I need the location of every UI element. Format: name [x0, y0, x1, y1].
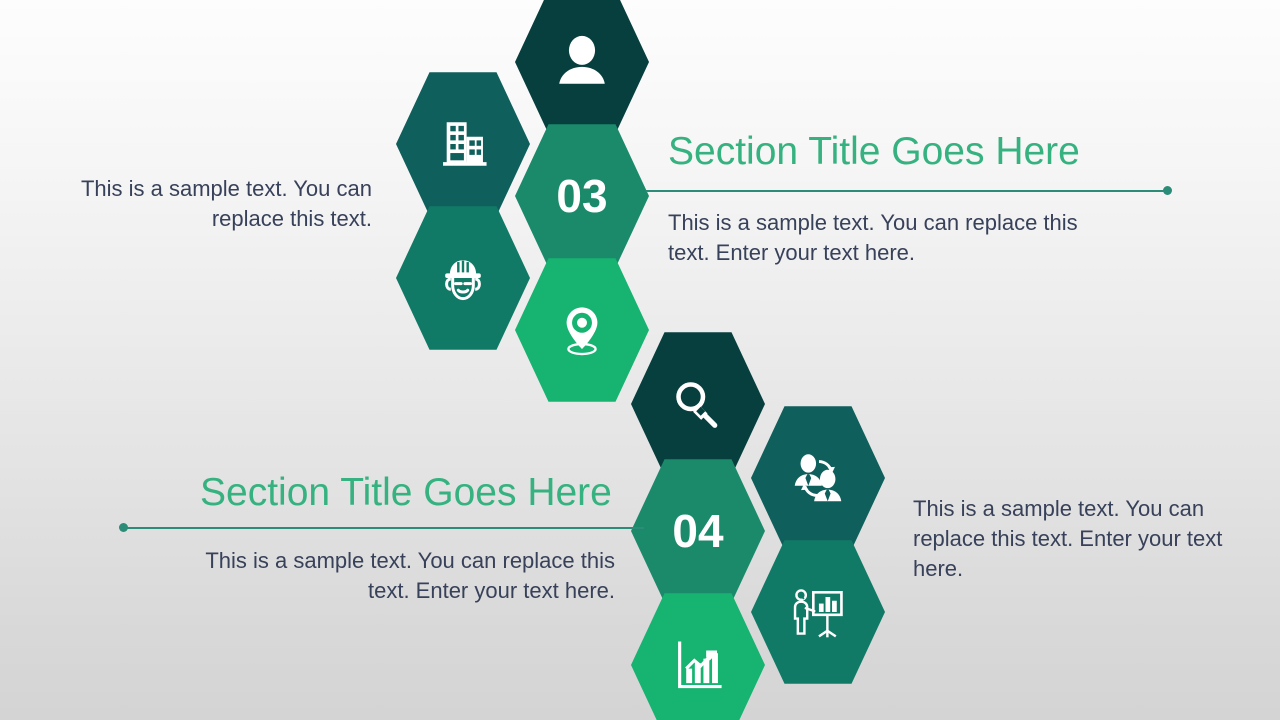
- section-body-03-left: This is a sample text. You can replace t…: [50, 174, 372, 234]
- person-icon: [551, 31, 613, 93]
- growth-chart-icon: [669, 636, 727, 694]
- hexagon-number-04[interactable]: 04: [631, 457, 765, 605]
- presentation-icon: [788, 582, 848, 642]
- hexagon-growth-chart[interactable]: [631, 591, 765, 720]
- office-building-icon: [434, 115, 492, 173]
- section-number-04: 04: [672, 508, 723, 554]
- hexagon-microphone[interactable]: [631, 330, 765, 478]
- hexagon-number-03[interactable]: 03: [515, 122, 649, 270]
- teamwork-icon: [787, 447, 849, 509]
- connector-line-04: [124, 527, 644, 529]
- microphone-icon: [669, 375, 727, 433]
- construction-worker-icon: [433, 248, 493, 308]
- section-number-03: 03: [556, 173, 607, 219]
- hexagon-map-pin[interactable]: [515, 256, 649, 404]
- hexagon-presentation[interactable]: [751, 538, 885, 686]
- hexagon-construction-worker[interactable]: [396, 204, 530, 352]
- section-title-04: Section Title Goes Here: [200, 472, 608, 515]
- slide-canvas: 03: [0, 0, 1280, 720]
- hexagon-office-building[interactable]: [396, 70, 530, 218]
- map-pin-icon: [553, 301, 611, 359]
- section-body-03-right: This is a sample text. You can replace t…: [668, 208, 1098, 268]
- section-title-03: Section Title Goes Here: [668, 131, 1080, 174]
- section-body-04-right: This is a sample text. You can replace t…: [913, 494, 1235, 584]
- section-body-04-left: This is a sample text. You can replace t…: [185, 546, 615, 606]
- connector-dot-03: [1163, 186, 1172, 195]
- hexagon-person[interactable]: [515, 0, 649, 136]
- connector-dot-04: [119, 523, 128, 532]
- hexagon-teamwork[interactable]: [751, 404, 885, 552]
- connector-line-03: [646, 190, 1167, 192]
